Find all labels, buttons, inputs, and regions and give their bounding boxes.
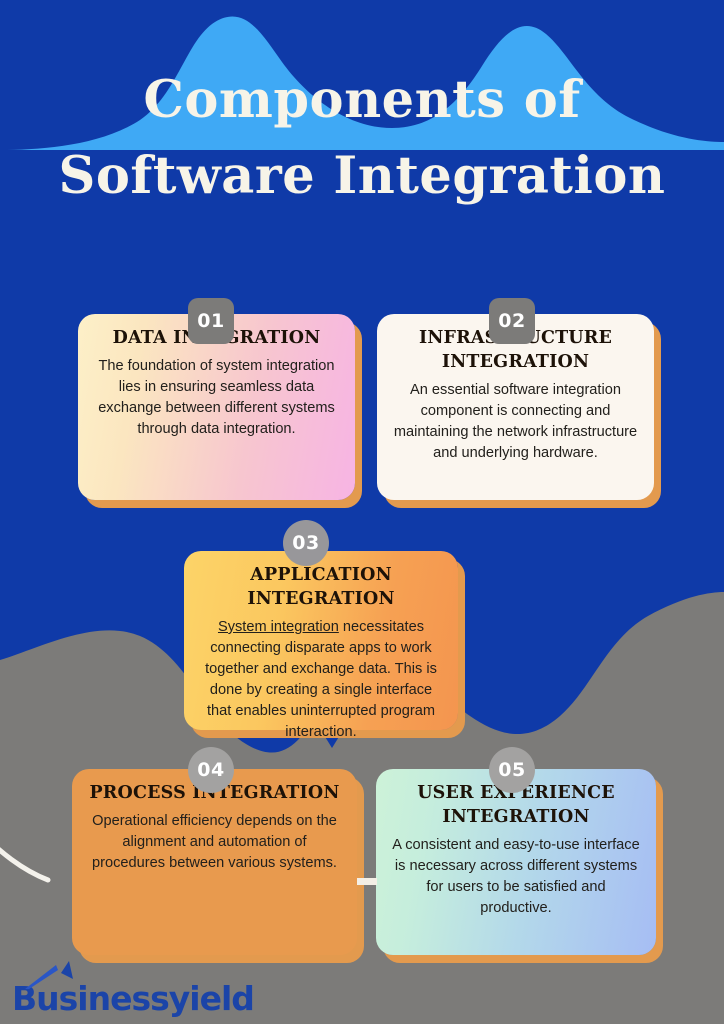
title-line-1: Components of <box>0 62 724 138</box>
card-title-03-line-1: APPLICATION <box>250 565 392 585</box>
title-line-2: Software Integration <box>0 138 724 214</box>
businessyield-logo[interactable]: Businessyield <box>12 960 254 1016</box>
system-integration-link[interactable]: System integration <box>218 619 339 635</box>
card-title-02-line-2: INTEGRATION <box>442 352 589 372</box>
card-application-integration[interactable]: APPLICATION INTEGRATION System integrati… <box>184 551 458 730</box>
connector-line-04-05 <box>357 878 377 885</box>
card-body-02: An essential software integration compon… <box>390 380 641 464</box>
card-body-03: System integration necessitates connecti… <box>197 617 445 743</box>
card-badge-05: 05 <box>489 747 535 793</box>
card-title-03-line-2: INTEGRATION <box>247 589 394 609</box>
logo-wordmark: Businessyield <box>12 982 254 1016</box>
card-badge-02: 02 <box>489 298 535 344</box>
card-body-04: Operational efficiency depends on the al… <box>85 811 344 874</box>
card-process-integration[interactable]: PROCESS INTEGRATION Operational efficien… <box>72 769 357 955</box>
card-badge-01: 01 <box>188 298 234 344</box>
growth-arrow-icon <box>25 959 89 989</box>
card-badge-04: 04 <box>188 747 234 793</box>
card-badge-03: 03 <box>283 520 329 566</box>
card-body-03-rest: necessitates connecting disparate apps t… <box>205 619 437 740</box>
page-title: Components of Software Integration <box>0 62 724 214</box>
card-body-05: A consistent and easy-to-use interface i… <box>389 835 643 919</box>
infographic-poster: Components of Software Integration 01 DA… <box>0 0 724 1024</box>
card-body-01: The foundation of system integration lie… <box>91 356 342 440</box>
card-title-05-line-2: INTEGRATION <box>442 807 589 827</box>
card-user-experience-integration[interactable]: USER EXPERIENCE INTEGRATION A consistent… <box>376 769 656 955</box>
card-title-03: APPLICATION INTEGRATION <box>197 563 445 611</box>
